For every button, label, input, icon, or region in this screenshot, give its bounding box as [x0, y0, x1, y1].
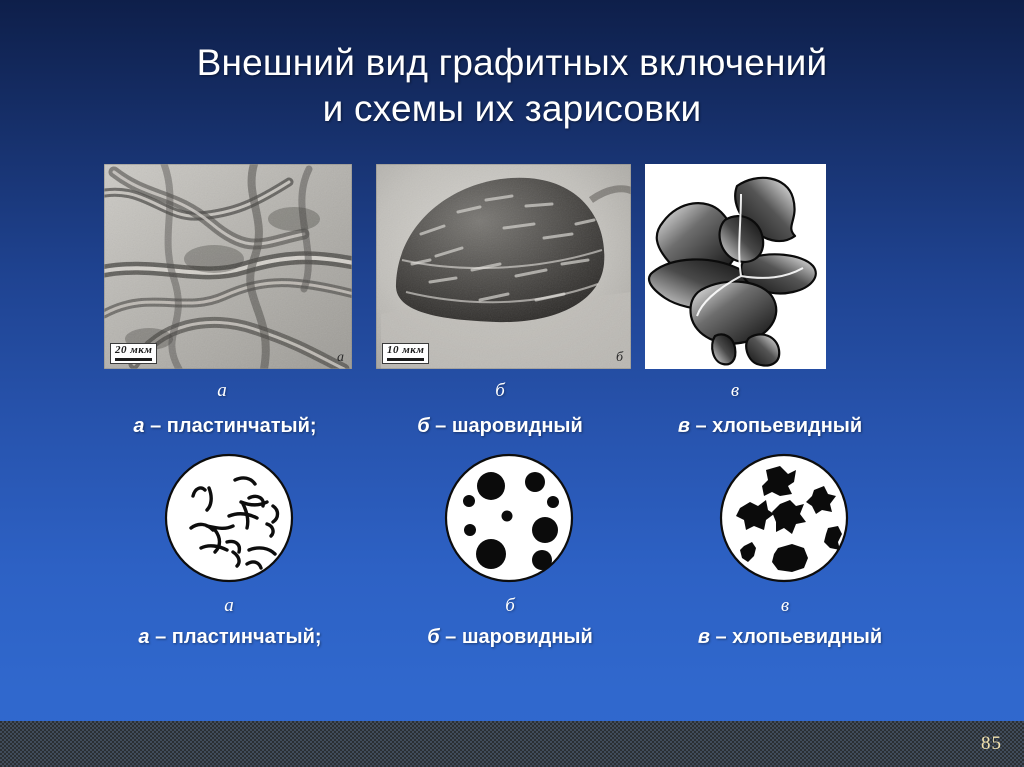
scheme-caption-text-a: а – пластинчатый;: [100, 624, 360, 650]
photo-caption-text-a-name: пластинчатый;: [167, 415, 317, 437]
scheme-caption-letters-row: а б в: [0, 595, 1024, 619]
photo-caption-text-a-dash: –: [145, 415, 167, 437]
photo-spheroidal-graphite: 10 мкм б: [376, 164, 631, 369]
photo-corner-label-b: б: [616, 350, 623, 366]
schematic-row: [0, 452, 1024, 584]
lamellar-graphite-micrograph-icon: [104, 164, 352, 369]
photo-caption-text-b-name: шаровидный: [452, 415, 583, 437]
page-number: 85: [981, 733, 1002, 755]
photo-caption-letter-b: б: [460, 380, 540, 402]
photo-lamellar-graphite: 20 мкм а: [104, 164, 352, 369]
scheme-caption-text-b: б – шаровидный: [385, 624, 635, 650]
photo-caption-text-a: а – пластинчатый;: [95, 413, 355, 439]
page-title: Внешний вид графитных включений и схемы …: [0, 40, 1024, 132]
photo-flake-graphite-drawing: [645, 164, 826, 369]
photo-caption-text-b-dash: –: [430, 415, 452, 437]
scheme-caption-text-c-dash: –: [710, 626, 732, 648]
scale-bar-a-text: 20 мкм: [115, 344, 152, 356]
slide-canvas: Внешний вид графитных включений и схемы …: [0, 0, 1024, 767]
flake-schematic-icon: [718, 452, 850, 584]
scheme-caption-letter-a: а: [189, 595, 269, 617]
scheme-caption-text-b-dash: –: [440, 626, 462, 648]
photo-caption-letters-row: а б в: [0, 380, 1024, 404]
scheme-caption-letter-b: б: [470, 595, 550, 617]
scheme-caption-text-a-letter: а: [138, 626, 149, 648]
scheme-caption-text-c-name: хлопьевидный: [732, 626, 882, 648]
photo-corner-label-a: а: [337, 350, 344, 366]
footer-band: 85: [0, 721, 1024, 767]
photo-caption-text-a-letter: а: [133, 415, 144, 437]
scale-bar-b-line: [387, 358, 424, 361]
lamellar-schematic-icon: [163, 452, 295, 584]
scale-bar-a-line: [115, 358, 152, 361]
scheme-caption-text-c: в – хлопьевидный: [650, 624, 930, 650]
flake-graphite-drawing-icon: [645, 164, 826, 369]
photograph-row: 20 мкм а: [104, 164, 826, 369]
scale-bar-b-text: 10 мкм: [387, 344, 424, 356]
photo-caption-text-c-dash: –: [690, 415, 712, 437]
scheme-caption-text-a-dash: –: [150, 626, 172, 648]
photo-caption-letter-c: в: [695, 380, 775, 402]
photo-caption-text-b: б – шаровидный: [375, 413, 625, 439]
photo-caption-text-c: в – хлопьевидный: [630, 413, 910, 439]
scheme-caption-text-a-name: пластинчатый;: [172, 626, 322, 648]
photo-caption-letter-a: а: [182, 380, 262, 402]
photo-caption-text-b-letter: б: [417, 415, 429, 437]
scale-bar-b: 10 мкм: [382, 343, 429, 364]
schematic-spheroidal: [443, 452, 575, 584]
photo-caption-text-row: а – пластинчатый; б – шаровидный в – хло…: [0, 413, 1024, 443]
scheme-caption-text-b-letter: б: [427, 626, 439, 648]
schematic-lamellar: [163, 452, 295, 584]
photo-caption-text-c-letter: в: [678, 415, 690, 437]
scheme-caption-text-c-letter: в: [698, 626, 710, 648]
spheroidal-graphite-micrograph-icon: [376, 164, 631, 369]
schematic-flake: [718, 452, 850, 584]
scheme-caption-text-b-name: шаровидный: [462, 626, 593, 648]
scheme-caption-letter-c: в: [745, 595, 825, 617]
spheroidal-schematic-icon: [443, 452, 575, 584]
scale-bar-a: 20 мкм: [110, 343, 157, 364]
photo-caption-text-c-name: хлопьевидный: [712, 415, 862, 437]
scheme-caption-text-row: а – пластинчатый; б – шаровидный в – хло…: [0, 624, 1024, 654]
